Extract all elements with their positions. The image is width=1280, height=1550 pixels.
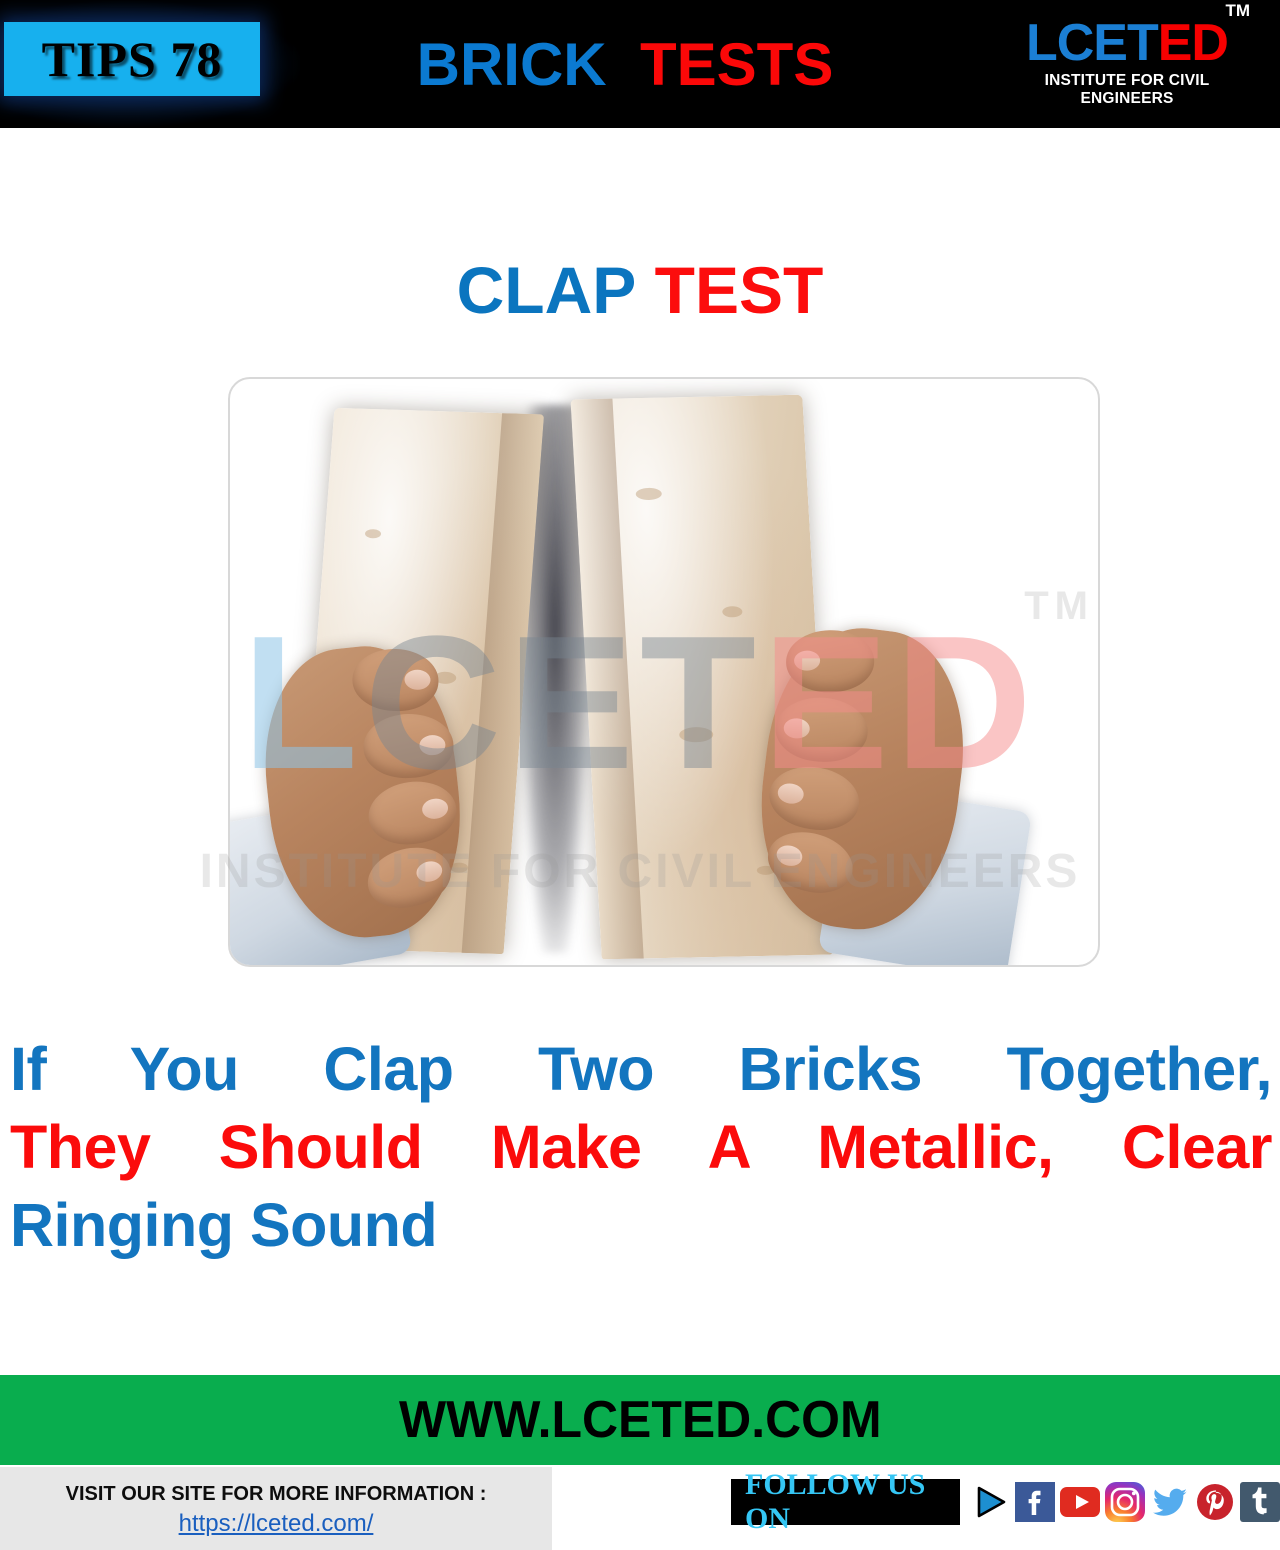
footer-bar: VISIT OUR SITE FOR MORE INFORMATION : ht… bbox=[0, 1467, 1280, 1550]
brick-photo-card bbox=[228, 377, 1100, 967]
finger bbox=[774, 695, 869, 764]
header-title-tests: TESTS bbox=[640, 31, 833, 98]
visit-site-box: VISIT OUR SITE FOR MORE INFORMATION : ht… bbox=[0, 1467, 552, 1550]
header-title-brick: BRICK bbox=[417, 31, 607, 98]
brick-texture-speck bbox=[722, 606, 743, 617]
page-title-clap: CLAP bbox=[457, 253, 637, 327]
tumblr-icon[interactable] bbox=[1240, 1482, 1280, 1522]
poster-page: TIPS 78 BRICK TESTS LCETED TM INSTITUTE … bbox=[0, 0, 1280, 1550]
logo-trademark-icon: TM bbox=[1225, 2, 1250, 20]
brick-texture-speck bbox=[365, 529, 382, 538]
fingernail bbox=[414, 859, 444, 885]
tip-body-line-1: If You Clap Two Bricks Together, bbox=[10, 1030, 1272, 1108]
social-links-row bbox=[970, 1482, 1280, 1522]
follow-us-section: FOLLOW US ON bbox=[731, 1479, 1280, 1525]
fingernail bbox=[774, 843, 804, 869]
pinterest-icon[interactable] bbox=[1195, 1482, 1235, 1522]
finger bbox=[765, 761, 864, 836]
tip-body-text: If You Clap Two Bricks Together, They Sh… bbox=[10, 1030, 1272, 1264]
tip-body-line-2: They Should Make A Metallic, Clear bbox=[10, 1108, 1272, 1186]
fingernail bbox=[404, 669, 431, 690]
finger bbox=[362, 712, 454, 779]
website-url-label: WWW.LCETED.COM bbox=[399, 1390, 881, 1450]
tips-badge-label: TIPS 78 bbox=[42, 34, 223, 84]
logo-text-ed: ED bbox=[1158, 14, 1228, 72]
fingernail bbox=[783, 718, 810, 739]
finger bbox=[365, 776, 461, 850]
fingernail bbox=[794, 650, 820, 670]
lceted-logo: LCETED TM INSTITUTE FOR CIVIL ENGINEERS bbox=[1002, 16, 1252, 112]
tips-badge: TIPS 78 bbox=[4, 22, 260, 96]
instagram-icon[interactable] bbox=[1105, 1482, 1145, 1522]
logo-subtitle: INSTITUTE FOR CIVIL ENGINEERS bbox=[1002, 72, 1252, 108]
page-title-test: TEST bbox=[655, 253, 824, 327]
brick-texture-speck bbox=[679, 727, 714, 743]
play-arrow-icon[interactable] bbox=[970, 1482, 1010, 1522]
visit-site-label: VISIT OUR SITE FOR MORE INFORMATION : bbox=[66, 1483, 487, 1506]
fingernail bbox=[776, 782, 805, 806]
page-title: CLAP TEST bbox=[0, 252, 1280, 328]
brick-photo bbox=[230, 379, 1098, 965]
fingernail bbox=[421, 797, 450, 820]
brick-texture-speck bbox=[635, 488, 662, 501]
youtube-icon[interactable] bbox=[1060, 1482, 1100, 1522]
tip-body-line-3: Ringing Sound bbox=[10, 1186, 1272, 1264]
fingernail bbox=[419, 735, 446, 756]
header-bar: TIPS 78 BRICK TESTS LCETED TM INSTITUTE … bbox=[0, 0, 1280, 128]
logo-text-lcet: LCET bbox=[1026, 14, 1158, 72]
finger bbox=[786, 629, 875, 693]
visit-site-link[interactable]: https://lceted.com/ bbox=[179, 1510, 374, 1538]
twitter-icon[interactable] bbox=[1150, 1482, 1190, 1522]
follow-us-label: FOLLOW US ON bbox=[745, 1468, 946, 1536]
website-bar[interactable]: WWW.LCETED.COM bbox=[0, 1375, 1280, 1465]
facebook-icon[interactable] bbox=[1015, 1482, 1055, 1522]
follow-us-badge: FOLLOW US ON bbox=[731, 1479, 960, 1525]
